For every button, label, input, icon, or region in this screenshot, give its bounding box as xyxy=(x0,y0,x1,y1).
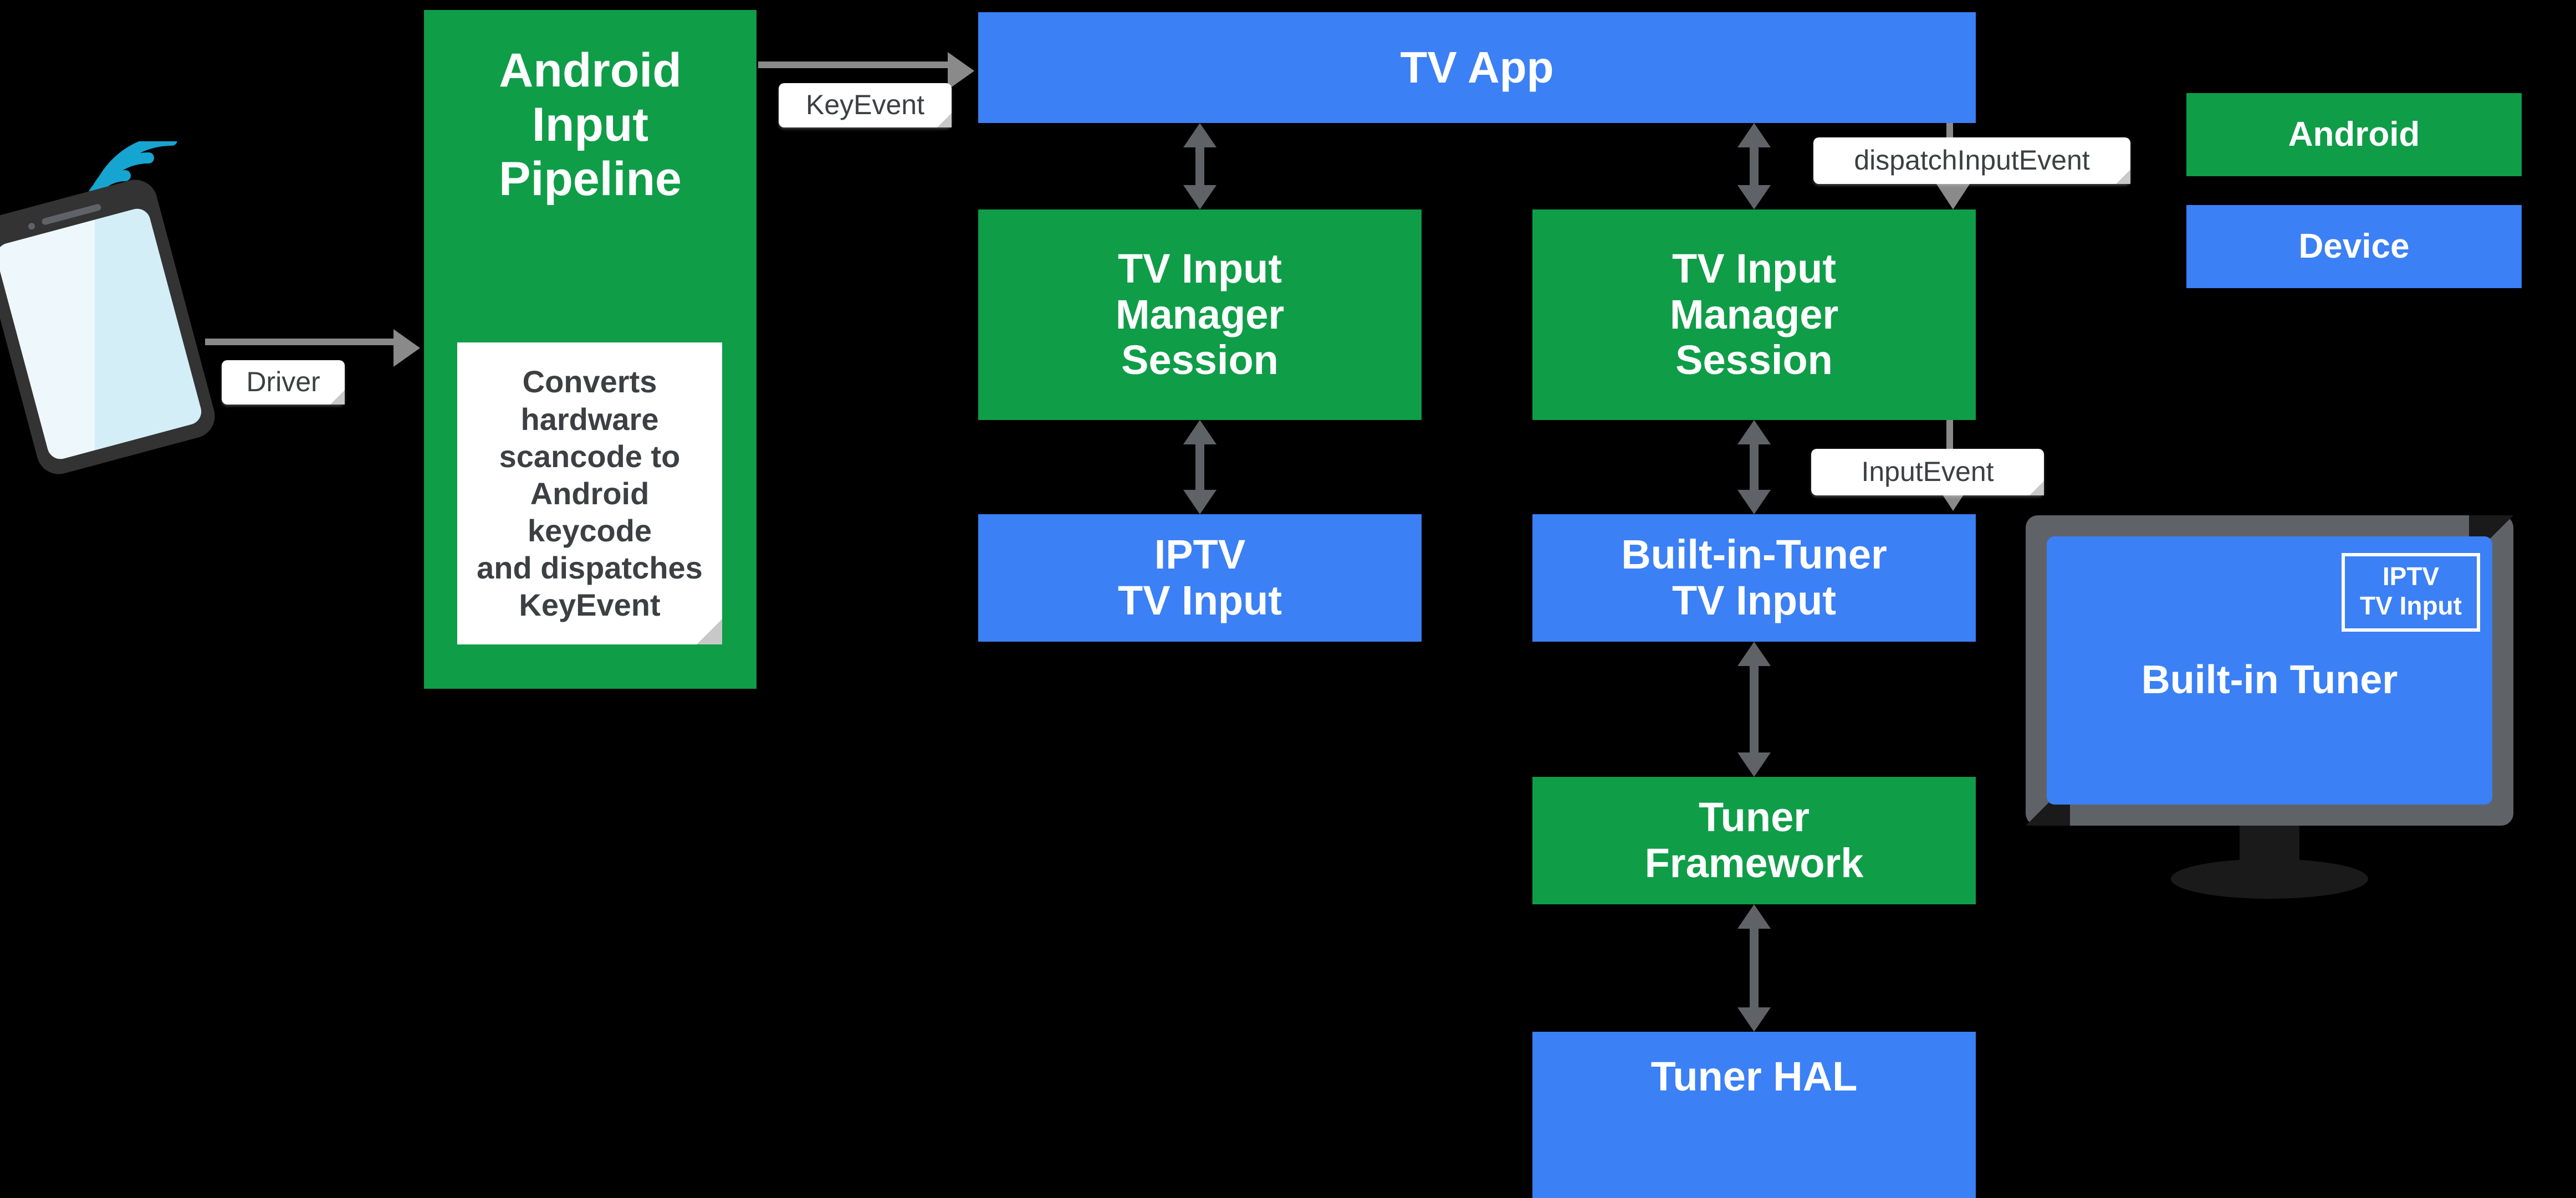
node-builtin-tuner-tv-input[interactable]: Built-in-Tuner TV Input xyxy=(1532,514,1976,642)
node-tuner-hal[interactable]: Tuner HAL xyxy=(1532,1032,1976,1198)
node-tv-input-manager-session-left-label: TV Input Manager Session xyxy=(1116,246,1284,384)
node-tv-input-manager-session-right[interactable]: TV Input Manager Session xyxy=(1532,209,1976,420)
note-fold xyxy=(2030,481,2044,495)
tv-main-label: Built-in Tuner xyxy=(2047,657,2492,703)
tv-stand-base xyxy=(2171,859,2368,899)
arrow-tvapp-tims-left xyxy=(1183,123,1217,209)
node-iptv-tv-input[interactable]: IPTV TV Input xyxy=(978,514,1422,642)
arrow-tims-left-iptv xyxy=(1183,420,1217,514)
edge-label-key-event: KeyEvent xyxy=(779,83,952,127)
edge-label-driver: Driver xyxy=(222,360,345,405)
edge-label-dispatch-input-event-text: dispatchInputEvent xyxy=(1854,144,2089,176)
note-fold xyxy=(697,619,722,644)
node-tv-app-label: TV App xyxy=(1401,43,1554,93)
arrow-tunerframework-tunerhal xyxy=(1737,904,1771,1032)
node-tuner-hal-label: Tuner HAL xyxy=(1651,1054,1858,1100)
note-card-keyevent-conversion: Converts hardware scancode to Android ke… xyxy=(457,342,722,644)
edge-label-dispatch-input-event: dispatchInputEvent xyxy=(1813,137,2130,184)
note-fold xyxy=(330,390,345,405)
remote-phone-icon xyxy=(0,175,219,479)
edge-label-input-event-text: InputEvent xyxy=(1861,455,1994,488)
node-android-input-pipeline-label: Android Input Pipeline xyxy=(424,43,757,206)
edge-label-key-event-text: KeyEvent xyxy=(806,89,924,121)
node-tuner-framework-label: Tuner Framework xyxy=(1645,795,1864,887)
tv-screen: IPTV TV Input Built-in Tuner xyxy=(2047,536,2492,805)
arrow-key-event xyxy=(758,54,985,76)
node-tv-input-manager-session-left[interactable]: TV Input Manager Session xyxy=(978,209,1422,420)
node-tv-input-manager-session-right-label: TV Input Manager Session xyxy=(1670,246,1838,384)
arrow-builtin-tunerframework xyxy=(1737,642,1771,777)
node-builtin-tuner-tv-input-label: Built-in-Tuner TV Input xyxy=(1621,532,1887,624)
note-fold xyxy=(937,113,952,127)
edge-label-driver-text: Driver xyxy=(246,366,320,398)
legend-item-device: Device xyxy=(2186,205,2522,288)
legend-item-device-label: Device xyxy=(2299,227,2410,265)
note-card-text: Converts hardware scancode to Android ke… xyxy=(472,363,708,623)
tv-monitor-icon: IPTV TV Input Built-in Tuner xyxy=(2026,515,2513,887)
tv-bezel: IPTV TV Input Built-in Tuner xyxy=(2026,515,2513,826)
note-fold xyxy=(2116,170,2130,184)
edge-label-input-event: InputEvent xyxy=(1811,449,2044,495)
node-iptv-tv-input-label: IPTV TV Input xyxy=(1118,532,1282,624)
arrow-tvapp-tims-right xyxy=(1737,123,1771,209)
tv-badge-iptv-tv-input: IPTV TV Input xyxy=(2342,553,2480,632)
arrow-driver xyxy=(205,331,427,354)
legend-item-android-label: Android xyxy=(2288,115,2420,153)
node-tv-app[interactable]: TV App xyxy=(978,12,1976,123)
node-android-input-pipeline[interactable]: Android Input Pipeline Converts hardware… xyxy=(424,10,757,689)
node-tuner-framework[interactable]: Tuner Framework xyxy=(1532,777,1976,904)
arrow-tims-right-builtin xyxy=(1737,420,1771,514)
diagram-canvas: Driver Android Input Pipeline Converts h… xyxy=(0,0,2576,1198)
legend-item-android: Android xyxy=(2186,93,2522,176)
